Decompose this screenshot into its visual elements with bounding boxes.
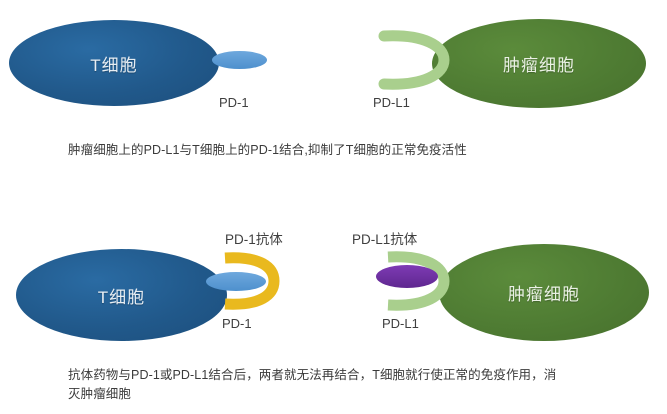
- pd1-pdl1-diagram: T细胞 PD-1 PD-L1 肿瘤细胞 肿瘤细胞上的PD-L1与T细胞上的PD-…: [0, 0, 667, 414]
- t-cell-bottom: T细胞: [16, 249, 227, 341]
- pdl1-antibody-shape: [376, 265, 438, 288]
- t-cell-top: T细胞: [9, 20, 219, 106]
- pd1-label-bottom: PD-1: [222, 316, 252, 331]
- pdl1-antibody-label: PD-L1抗体: [352, 228, 417, 248]
- tumor-cell-bottom-label: 肿瘤细胞: [508, 280, 580, 305]
- t-cell-bottom-label: T细胞: [98, 283, 145, 308]
- t-cell-top-label: T细胞: [90, 51, 137, 76]
- pdl1-receptor-top: [378, 30, 450, 90]
- caption-top: 肿瘤细胞上的PD-L1与T细胞上的PD-1结合,抑制了T细胞的正常免疫活性: [68, 141, 628, 160]
- tumor-cell-bottom: 肿瘤细胞: [439, 244, 649, 341]
- pd1-receptor-bottom: [206, 272, 266, 291]
- pdl1-label-top: PD-L1: [373, 95, 410, 110]
- pd1-antibody-label: PD-1抗体: [225, 228, 283, 248]
- pd1-receptor-top: [212, 51, 267, 69]
- caption-bottom: 抗体药物与PD-1或PD-L1结合后，两者就无法再结合，T细胞就行使正常的免疫作…: [68, 366, 568, 404]
- tumor-cell-top: 肿瘤细胞: [432, 19, 646, 108]
- pd1-label-top: PD-1: [219, 95, 249, 110]
- tumor-cell-top-label: 肿瘤细胞: [503, 51, 575, 76]
- pdl1-label-bottom: PD-L1: [382, 316, 419, 331]
